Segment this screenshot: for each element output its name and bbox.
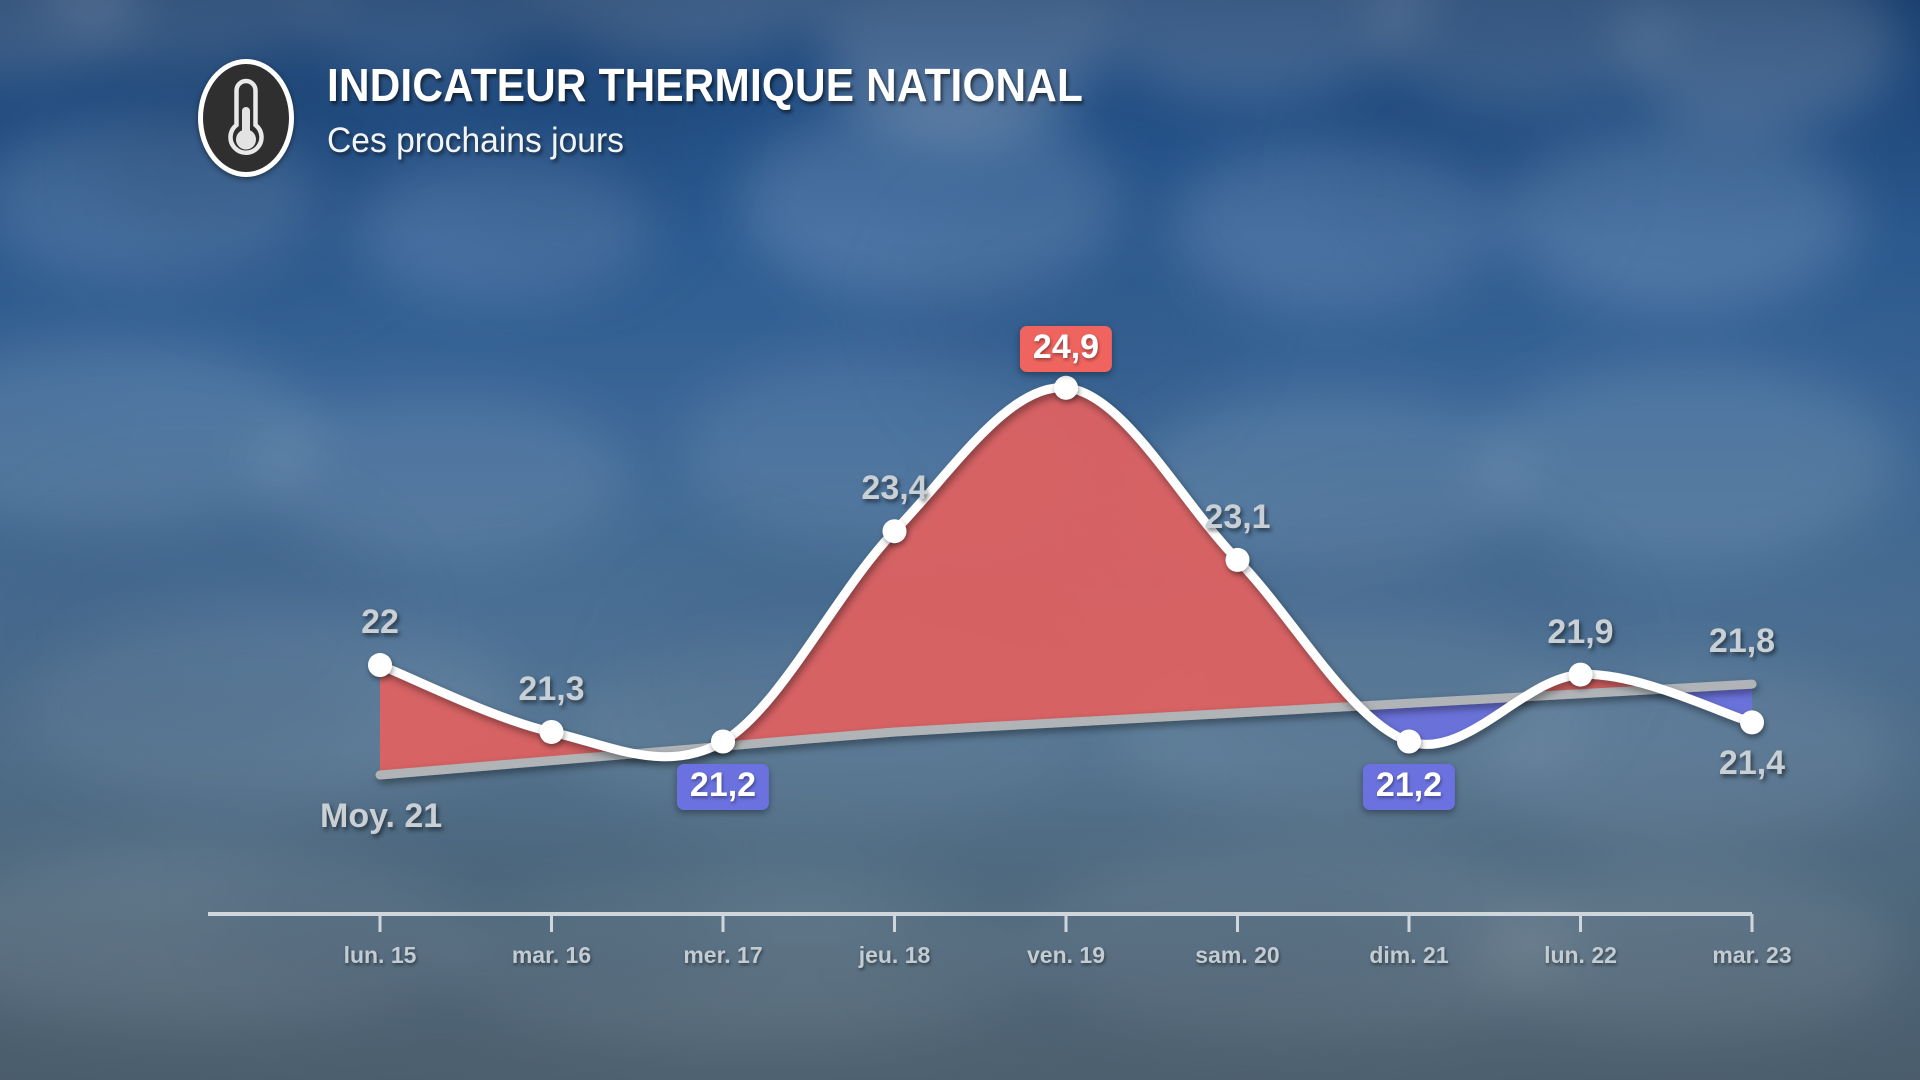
value-label-7: 21,9	[1547, 613, 1613, 652]
data-point-0[interactable]	[368, 653, 392, 677]
data-point-5[interactable]	[1226, 548, 1250, 572]
data-point-2[interactable]	[711, 730, 735, 754]
reference-end-label: 21,8	[1709, 622, 1775, 661]
data-point-6[interactable]	[1397, 730, 1421, 754]
x-axis-label-1: mar. 16	[512, 942, 591, 969]
x-axis-label-7: lun. 22	[1544, 942, 1617, 969]
temperature-chart: lun. 15mar. 16mer. 17jeu. 18ven. 19sam. …	[0, 0, 1920, 1080]
data-point-1[interactable]	[540, 720, 564, 744]
value-label-3: 23,4	[861, 469, 927, 508]
x-axis-label-2: mer. 17	[683, 942, 762, 969]
value-label-0: 22	[361, 603, 399, 642]
data-point-7[interactable]	[1569, 663, 1593, 687]
reference-average-label: Moy. 21	[320, 797, 442, 836]
x-axis-label-5: sam. 20	[1195, 942, 1279, 969]
x-axis-label-4: ven. 19	[1027, 942, 1105, 969]
chart-canvas	[0, 0, 1920, 1080]
value-label-8: 21,4	[1719, 744, 1785, 783]
value-label-5: 23,1	[1204, 498, 1270, 537]
x-axis-label-8: mar. 23	[1712, 942, 1791, 969]
value-badge-6: 21,2	[1363, 764, 1455, 811]
x-axis-label-6: dim. 21	[1369, 942, 1448, 969]
data-point-4[interactable]	[1054, 376, 1078, 400]
value-badge-4: 24,9	[1020, 326, 1112, 373]
above-normal-area	[380, 388, 1752, 775]
value-label-1: 21,3	[518, 670, 584, 709]
data-point-8[interactable]	[1740, 710, 1764, 734]
x-axis-label-0: lun. 15	[344, 942, 417, 969]
x-axis-label-3: jeu. 18	[859, 942, 931, 969]
value-badge-2: 21,2	[677, 764, 769, 811]
data-point-3[interactable]	[883, 519, 907, 543]
x-axis	[208, 914, 1752, 932]
